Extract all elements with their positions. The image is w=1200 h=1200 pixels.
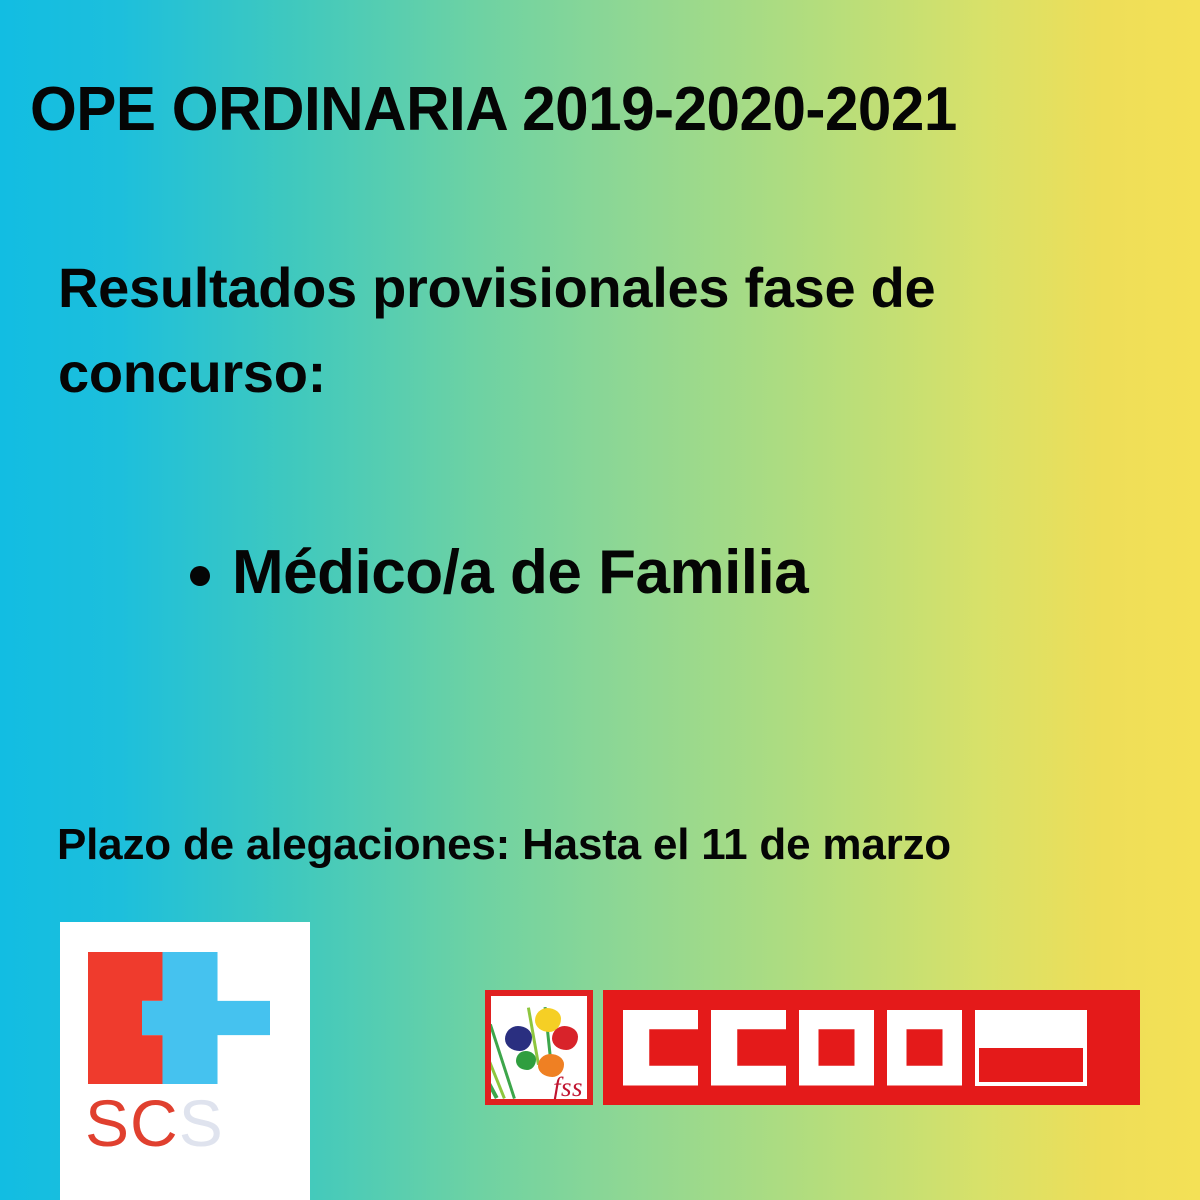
scs-logo: SCS (60, 922, 310, 1200)
fss-emblem-artwork-icon: fss (491, 996, 587, 1099)
ccoo-wordmark-panel (603, 990, 1140, 1105)
scs-wordmark-part1: SC (85, 1086, 179, 1160)
scs-cross-mark-icon (88, 952, 270, 1084)
bullet-dot-icon (190, 566, 210, 586)
subtitle-text: Resultados provisionales fase de concurs… (58, 245, 1158, 415)
scs-wordmark-part2: S (179, 1086, 224, 1160)
poster-canvas: OPE ORDINARIA 2019-2020-2021 Resultados … (0, 0, 1200, 1200)
page-title: OPE ORDINARIA 2019-2020-2021 (30, 78, 1146, 141)
ccoo-flag-icon (975, 1010, 1087, 1086)
ccoo-flag-lower-band (977, 1046, 1085, 1084)
fss-splash-green-icon (516, 1051, 536, 1070)
ccoo-letter-o-icon (887, 1010, 962, 1086)
fss-splash-red-icon (552, 1026, 578, 1050)
ccoo-letter-c-icon (711, 1010, 786, 1086)
ccoo-logo: fss (485, 990, 1140, 1105)
scs-wordmark: SCS (85, 1085, 224, 1161)
fss-wordmark: fss (553, 1072, 583, 1099)
list-item: Médico/a de Familia (190, 540, 808, 605)
ccoo-letter-o-icon (799, 1010, 874, 1086)
fss-splash-navy-icon (505, 1026, 532, 1051)
fss-emblem: fss (485, 990, 593, 1105)
list-item-label: Médico/a de Familia (232, 540, 808, 605)
ccoo-letter-c-icon (623, 1010, 698, 1086)
deadline-text: Plazo de alegaciones: Hasta el 11 de mar… (57, 820, 951, 870)
